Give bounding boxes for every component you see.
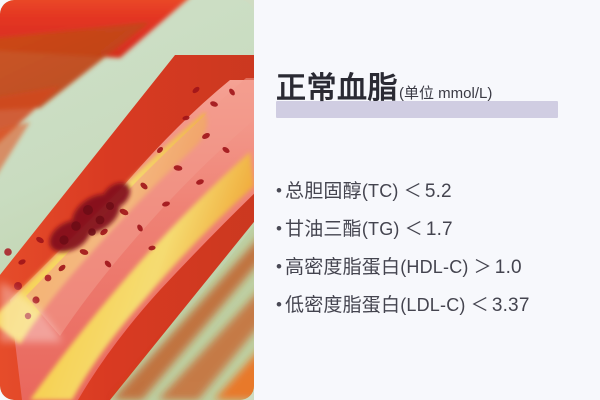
bullet-dot-icon: •: [276, 182, 285, 199]
lipid-abbr: (HDL-C): [400, 257, 468, 277]
title-text-wrap: 正常血脂(单位 mmol/L): [276, 74, 492, 104]
bullet-dot-icon: •: [276, 258, 285, 275]
page-title: 正常血脂(单位 mmol/L): [276, 74, 492, 104]
lipid-comparator: ＜: [471, 295, 489, 315]
list-item: • 甘油三酯(TG)＜1.7: [276, 214, 596, 252]
lipid-value: 5.2: [425, 181, 452, 202]
list-item: • 高密度脂蛋白(HDL-C)＞1.0: [276, 252, 596, 290]
lipid-reference-card: 正常血脂(单位 mmol/L) • 总胆固醇(TC)＜5.2 • 甘油三酯(TG…: [0, 0, 600, 400]
lipid-comparator: ＞: [474, 257, 492, 277]
list-item: • 低密度脂蛋白(LDL-C)＜3.37: [276, 290, 596, 328]
list-item-text: 总胆固醇(TC)＜5.2: [285, 176, 452, 203]
lipid-name: 高密度脂蛋白: [285, 257, 400, 278]
lipid-abbr: (TG): [362, 219, 400, 239]
lipid-abbr: (LDL-C): [400, 295, 465, 315]
lipid-comparator: ＜: [404, 181, 422, 201]
lipid-name: 总胆固醇: [285, 181, 362, 202]
artery-plaque-illustration: [0, 0, 254, 400]
list-item-text: 甘油三酯(TG)＜1.7: [285, 214, 453, 241]
bullet-dot-icon: •: [276, 296, 285, 313]
lipid-comparator: ＜: [405, 219, 423, 239]
title-main: 正常血脂: [276, 72, 398, 105]
title-unit: (单位 mmol/L): [399, 85, 492, 102]
lipid-values-list: • 总胆固醇(TC)＜5.2 • 甘油三酯(TG)＜1.7 • 高密度脂蛋白(H…: [276, 176, 596, 328]
lipid-name: 甘油三酯: [285, 219, 362, 240]
list-item-text: 高密度脂蛋白(HDL-C)＞1.0: [285, 252, 522, 279]
lipid-value: 1.7: [426, 219, 453, 240]
lipid-value: 3.37: [492, 295, 530, 316]
lipid-value: 1.0: [495, 257, 522, 278]
artery-plaque-graphic: [0, 0, 254, 400]
content-panel: 正常血脂(单位 mmol/L) • 总胆固醇(TC)＜5.2 • 甘油三酯(TG…: [254, 0, 600, 400]
list-item-text: 低密度脂蛋白(LDL-C)＜3.37: [285, 290, 530, 317]
lipid-abbr: (TC): [362, 181, 399, 201]
lipid-name: 低密度脂蛋白: [285, 295, 400, 316]
list-item: • 总胆固醇(TC)＜5.2: [276, 176, 596, 214]
bullet-dot-icon: •: [276, 220, 285, 237]
